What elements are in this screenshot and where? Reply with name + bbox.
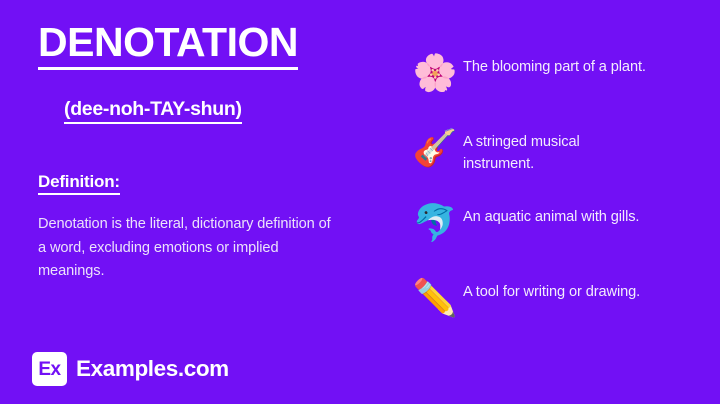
- term-panel: DENOTATION (dee-noh-TAY-shun) Definition…: [0, 0, 395, 404]
- list-item: ✏️ A tool for writing or drawing.: [395, 279, 720, 354]
- examples-panel: 🌸 The blooming part of a plant. 🎸 A stri…: [395, 0, 720, 404]
- dolphin-icon: 🐬: [407, 204, 463, 242]
- list-item: 🌸 The blooming part of a plant.: [395, 54, 720, 129]
- list-item-label: The blooming part of a plant.: [463, 54, 646, 78]
- cherry-blossom-icon: 🌸: [407, 54, 463, 92]
- guitar-icon: 🎸: [407, 129, 463, 167]
- list-item: 🎸 A stringed musical instrument.: [395, 129, 720, 204]
- denotation-slide: DENOTATION (dee-noh-TAY-shun) Definition…: [0, 0, 720, 404]
- brand-name: Examples.com: [76, 356, 229, 382]
- pencil-icon: ✏️: [407, 279, 463, 317]
- list-item-label: A tool for writing or drawing.: [463, 279, 640, 303]
- definition-heading: Definition:: [38, 172, 120, 195]
- examples-logo-icon: Ex: [32, 352, 67, 386]
- list-item-label: A stringed musical instrument.: [463, 129, 653, 175]
- page-title: DENOTATION: [38, 22, 298, 70]
- list-item: 🐬 An aquatic animal with gills.: [395, 204, 720, 279]
- pronunciation-block: (dee-noh-TAY-shun): [38, 98, 395, 124]
- list-item-label: An aquatic animal with gills.: [463, 204, 639, 228]
- definition-body-text: Denotation is the literal, dictionary de…: [38, 213, 338, 284]
- pronunciation-text: (dee-noh-TAY-shun): [64, 98, 242, 124]
- brand-logo: Ex Examples.com: [32, 352, 229, 386]
